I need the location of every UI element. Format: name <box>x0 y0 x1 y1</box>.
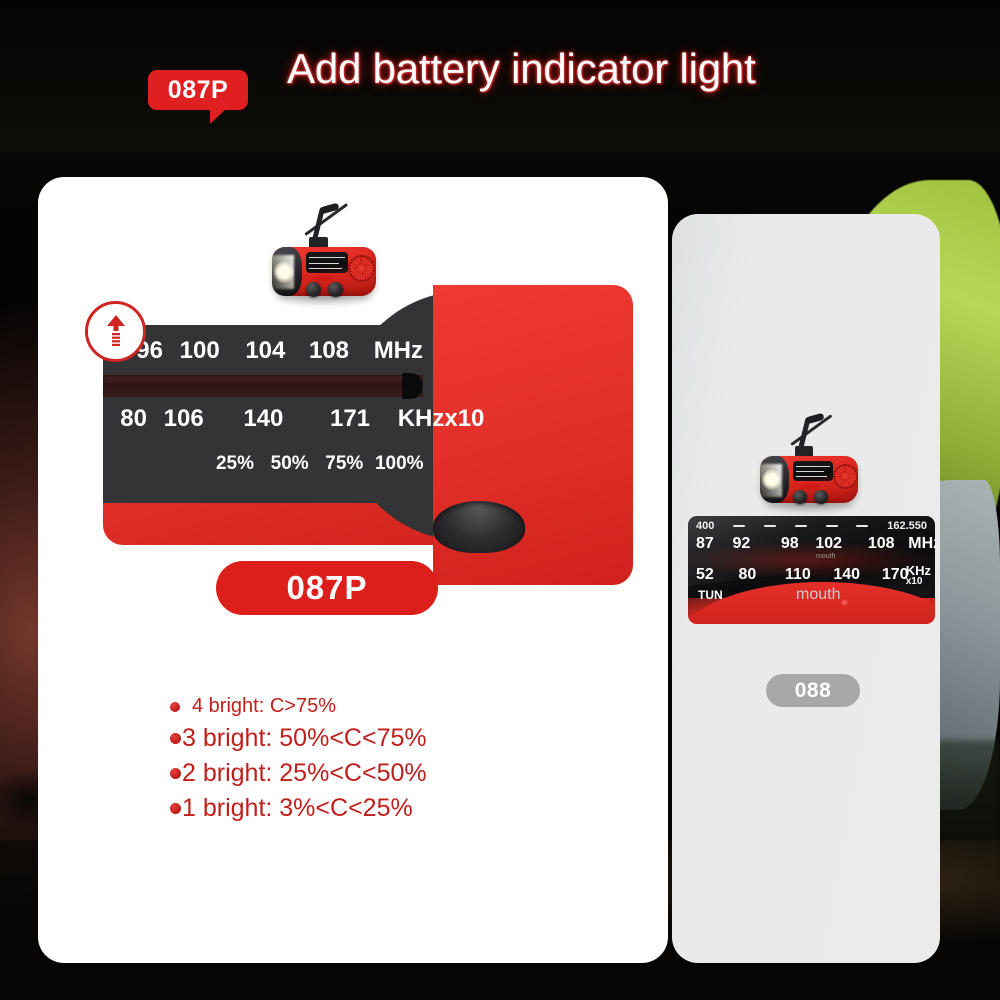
am-tick: 110 <box>785 566 829 584</box>
weather-tick-dash <box>826 525 838 527</box>
power-led-red <box>840 598 849 607</box>
battery-level-75: 75% <box>320 453 368 475</box>
fm-tick: 98 <box>781 535 811 553</box>
battery-level-25: 25% <box>211 453 259 475</box>
crank-dynamo-hub <box>840 471 850 481</box>
battery-indicator-legend: 4 bright: C>75% 3 bright: 50%<C<75% 2 br… <box>170 695 600 829</box>
fm-tick: 104 <box>236 337 294 365</box>
flashlight-beam <box>749 464 782 497</box>
legend-bullet-dot <box>170 803 181 814</box>
battery-led-strip <box>801 484 820 489</box>
dial-tuning-window <box>103 375 423 397</box>
tune-label: TUN <box>698 588 723 602</box>
fm-tick: 108 <box>868 535 904 553</box>
battery-level-label: 50% <box>266 453 314 475</box>
weather-band-scale: 400 162.550 <box>696 520 927 532</box>
dial-illustration-088: 400 162.550 87 92 98 102 108 MHz 52 80 1… <box>688 516 935 624</box>
dial-am-scale: 80 106 140 171 KHzx10 <box>103 405 484 433</box>
legend-bullet-dot <box>170 768 181 779</box>
background-bottom-band <box>0 964 1000 1000</box>
weather-tick-dash <box>856 525 868 527</box>
up-arrow-charging-icon <box>85 301 146 362</box>
model-badge-label: 087P <box>286 569 367 607</box>
product-photo-radio-087p <box>262 203 382 308</box>
legend-item-label: 2 bright: 25%<C<50% <box>182 759 427 788</box>
legend-item-label: 4 bright: C>75% <box>192 695 336 718</box>
brand-label: mouth <box>796 586 840 604</box>
legend-bullet-dot <box>170 733 181 744</box>
brand-label-small: mouth <box>816 553 835 560</box>
infographic-canvas: 087P Add battery indicator light <box>0 0 1000 1000</box>
fm-unit-label: MHz <box>908 535 935 552</box>
legend-item: 3 bright: 50%<C<75% <box>170 724 600 753</box>
product-shadow <box>758 499 860 514</box>
legend-item: 2 bright: 25%<C<50% <box>170 759 600 788</box>
fm-tick: 102 <box>815 535 863 553</box>
dial-tick <box>796 471 824 472</box>
am-tick: 140 <box>220 405 306 433</box>
page-title: Add battery indicator light <box>287 48 907 91</box>
header: 087P Add battery indicator light <box>0 0 1000 152</box>
fm-tick: 92 <box>732 535 776 553</box>
legend-item-label: 1 bright: 3%<C<25% <box>182 794 413 823</box>
weather-scale-min: 400 <box>696 520 714 532</box>
dial-tuning-needle <box>402 373 422 399</box>
fm-unit-label: MHz <box>374 337 423 365</box>
weather-scale-max: 162.550 <box>887 520 927 532</box>
weather-tick-dash <box>795 525 807 527</box>
fm-tick: 108 <box>301 337 357 365</box>
am-unit-label: KHzx10 <box>398 405 485 433</box>
battery-level-label: 75% <box>320 453 368 475</box>
dial-tick <box>796 466 830 467</box>
am-unit-multiplier: x10 <box>906 577 931 587</box>
legend-bullet-dot <box>170 702 180 712</box>
battery-level-100: 100% <box>375 453 423 475</box>
header-sku-badge: 087P <box>148 70 248 110</box>
am-tick: 80 <box>738 566 780 584</box>
product-shadow <box>270 291 378 307</box>
weather-tick-dash <box>733 525 745 527</box>
dial-bottom-knob <box>433 501 525 553</box>
dial-tick <box>309 257 345 258</box>
battery-level-label: 100% <box>375 453 423 475</box>
battery-level-scale: 25% 50% 75% 100% <box>211 453 423 475</box>
dial-tick <box>309 268 342 269</box>
dial-fm-scale: 96 100 104 108 MHz <box>103 337 423 365</box>
model-badge-087p: 087P <box>216 561 438 615</box>
am-tick: 52 <box>696 566 734 584</box>
battery-level-50: 50% <box>266 453 314 475</box>
model-badge-088: 088 <box>766 674 860 707</box>
fm-tick: 100 <box>170 337 230 365</box>
am-tick: 171 <box>313 405 387 433</box>
dial-tick <box>309 263 339 264</box>
flashlight-beam <box>260 255 294 289</box>
header-sku-badge-label: 087P <box>168 76 228 105</box>
battery-level-label: 25% <box>211 453 259 475</box>
am-tick: 80 <box>103 405 147 433</box>
dial-am-scale: 52 80 110 140 170 <box>696 566 929 584</box>
crank-dynamo-hub <box>356 263 367 274</box>
dial-fm-scale: 87 92 98 102 108 MHz <box>696 535 929 553</box>
dial-tick <box>796 476 827 477</box>
dial-zoom-illustration: 96 100 104 108 MHz 80 106 140 171 KHzx10… <box>103 325 551 545</box>
battery-led-strip <box>314 276 334 281</box>
model-badge-label: 088 <box>795 679 832 703</box>
am-tick: 106 <box>154 405 214 433</box>
am-unit-group: KHz x10 <box>906 564 931 587</box>
am-tick: 140 <box>833 566 877 584</box>
legend-item: 4 bright: C>75% <box>170 695 600 718</box>
fm-tick: 87 <box>696 535 728 553</box>
legend-item: 1 bright: 3%<C<25% <box>170 794 600 823</box>
weather-tick-dash <box>764 525 776 527</box>
legend-item-label: 3 bright: 50%<C<75% <box>182 724 427 753</box>
product-photo-radio-088 <box>752 415 864 515</box>
dial-shell: 400 162.550 87 92 98 102 108 MHz 52 80 1… <box>688 516 935 624</box>
